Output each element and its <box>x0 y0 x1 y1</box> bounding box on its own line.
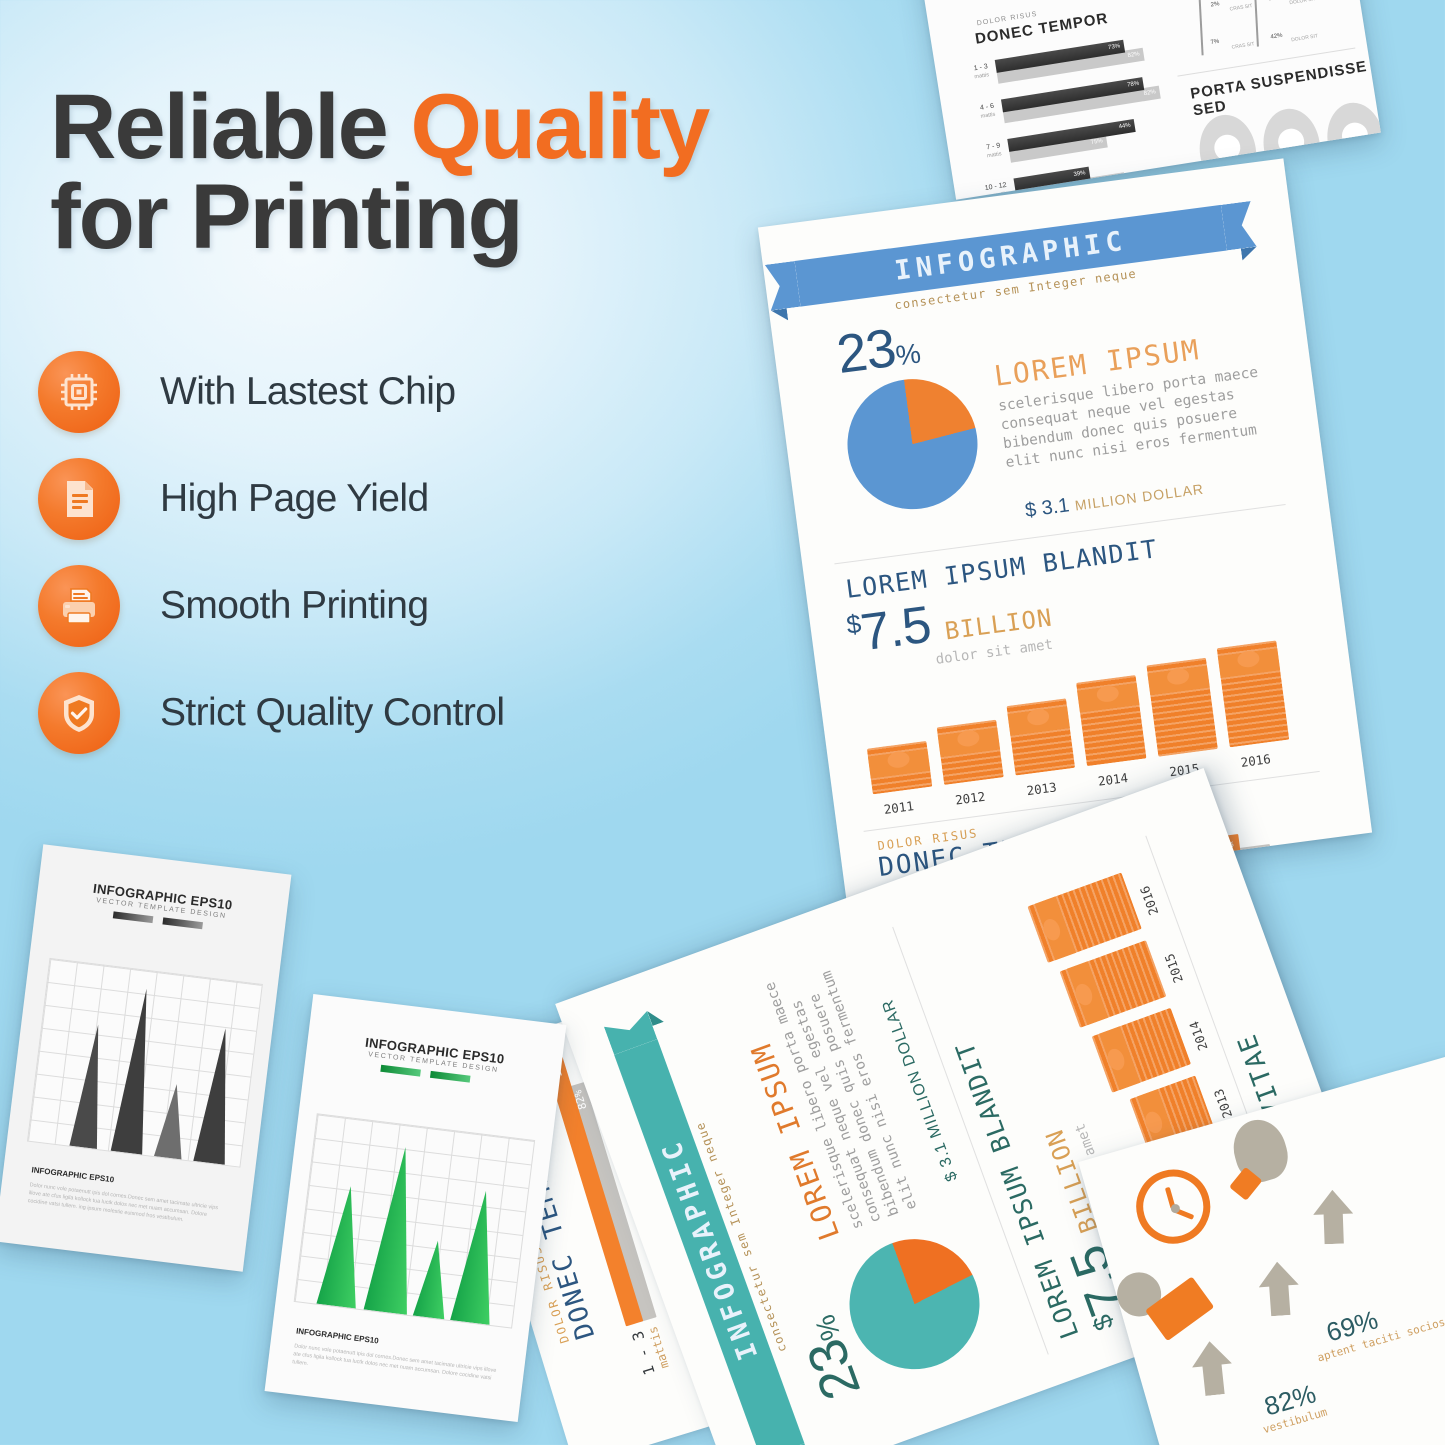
bw-bar-pct-dark: 44% <box>1118 123 1131 131</box>
bw-bar-pct-dark: 78% <box>1127 81 1140 89</box>
shield-check-icon <box>38 672 120 754</box>
arrow-up-icon <box>1257 1260 1301 1317</box>
page-title: Reliable Quality for Printing <box>50 82 880 262</box>
year-label: 2011 <box>868 796 929 819</box>
bw-cone-note: CRAS SIT <box>1229 3 1253 13</box>
eps-footer-title: INFOGRAPHIC EPS10 <box>296 1326 380 1345</box>
printer-icon <box>38 565 120 647</box>
bw-cone-note: CRAS SIT <box>1231 41 1255 51</box>
eps-key-bar <box>162 917 203 929</box>
feature-item-chip: With Lastest Chip <box>38 338 688 445</box>
blandit-value: 7.5 <box>857 596 933 663</box>
feature-item-page-yield: High Page Yield <box>38 445 688 552</box>
arrow-up-icon <box>1312 1189 1354 1244</box>
year-label: 2014 <box>1082 768 1143 791</box>
bw-bar-pct-dark: 73% <box>1108 43 1121 51</box>
bw-cone-note: DOLOR SIT <box>1289 0 1317 6</box>
eps-key-bar <box>113 911 154 923</box>
bar-pct-grey: 82% <box>1244 847 1265 862</box>
bw-bar-pct-grey: 82% <box>1127 51 1140 59</box>
bw-bar-pct-grey: 75% <box>1090 138 1103 146</box>
headline-line1-dark: Reliable <box>50 76 410 178</box>
year-label: 2016 <box>1225 749 1286 772</box>
eps-chart-grid <box>294 1113 536 1328</box>
feature-label-quality-control: Strict Quality Control <box>160 691 504 735</box>
feature-item-quality-control: Strict Quality Control <box>38 659 688 766</box>
eps-key-bar <box>430 1071 471 1083</box>
sheet-green-chart: INFOGRAPHIC EPS10 VECTOR TEMPLATE DESIGN… <box>265 994 567 1422</box>
year-bar-chart: 2011 2012 2013 2014 2015 2016 <box>854 637 1326 821</box>
pie-percent-label: 23% <box>833 314 922 386</box>
bw-cone-note: DOLOR SIT <box>1291 33 1319 43</box>
clock-icon <box>1127 1161 1219 1253</box>
headline-line1-orange: Quality <box>410 76 708 178</box>
eps-key-bar <box>380 1065 421 1077</box>
sheet-grey-chart: INFOGRAPHIC EPS10 VECTOR TEMPLATE DESIGN… <box>0 844 291 1271</box>
bw-ellipse-icon <box>1322 99 1381 181</box>
bw-bar-pct-dark: 39% <box>1073 170 1086 178</box>
bw-icon-caption: FUN & IRONY <box>1332 175 1380 190</box>
bw-cone-pct: 2% <box>1210 1 1220 8</box>
bw-cone-pct: 42% <box>1270 33 1283 41</box>
chip-icon <box>38 351 120 433</box>
eps-footer-title: INFOGRAPHIC EPS10 <box>31 1165 115 1184</box>
pie-chart <box>840 371 986 517</box>
feature-label-page-yield: High Page Yield <box>160 477 429 521</box>
sheet-main-infographic: INFOGRAPHIC consectetur sem Integer nequ… <box>758 158 1372 901</box>
headline-line2: for Printing <box>50 172 880 262</box>
year-label: 2012 <box>939 787 1000 810</box>
eps-footer-body: Dolor nunc vole potaenutt ipis dol corne… <box>27 1181 228 1230</box>
year-label: 2013 <box>1011 777 1072 800</box>
money-unit: MILLION DOLLAR <box>1074 481 1205 514</box>
feature-list: With Lastest Chip High Page Yield <box>38 338 688 766</box>
bw-cone-pct: 50% <box>1268 0 1281 2</box>
eps-footer-body: Dolor nunc vole potaenutt ipis dol corne… <box>292 1342 498 1391</box>
feature-label-chip: With Lastest Chip <box>160 370 455 414</box>
feature-label-smooth-printing: Smooth Printing <box>160 584 428 628</box>
money-value: $ 3.1 MILLION DOLLAR <box>1024 477 1205 523</box>
document-icon <box>38 458 120 540</box>
eps-chart-grid <box>27 958 263 1168</box>
sheet-bw-infographic: DOLOR RISUS DONEC TEMPOR 1 - 3 mattis 82… <box>909 0 1381 200</box>
feature-item-smooth-printing: Smooth Printing <box>38 552 688 659</box>
bw-cone-pct: 7% <box>1210 39 1220 46</box>
bw-chart-title: DONEC TEMPOR <box>974 10 1110 48</box>
arrow-up-icon <box>1190 1339 1235 1397</box>
bw-bar-pct-grey: 82% <box>1143 89 1156 97</box>
